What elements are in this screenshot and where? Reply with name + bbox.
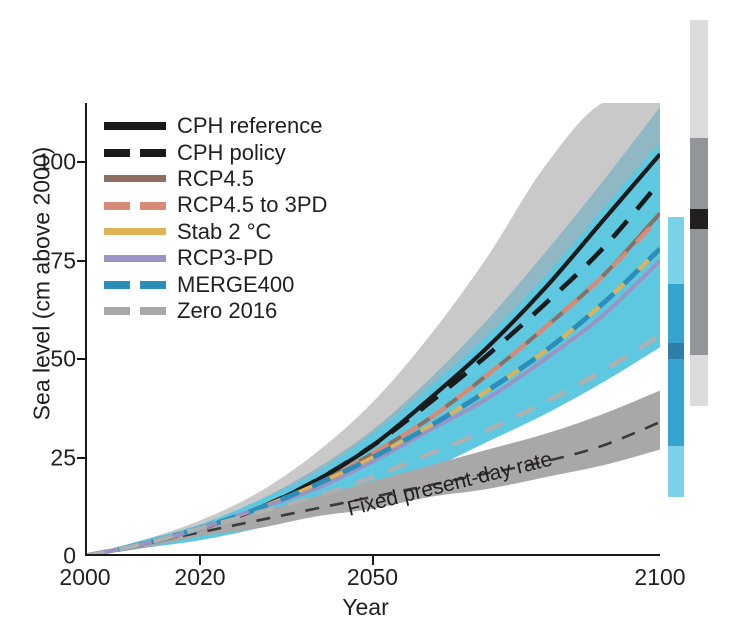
side-bar-segment-merge400-distribution-0	[668, 217, 684, 284]
side-bar-segment-cph-reference-distribution-1	[690, 138, 708, 209]
y-tick-mark-100	[77, 161, 86, 163]
side-bar-segment-merge400-distribution-4	[668, 446, 684, 497]
x-tick-label-2100: 2100	[634, 564, 685, 591]
legend-item-label: CPH reference	[177, 115, 323, 137]
legend-swatch-icon	[104, 228, 166, 235]
side-bar-segment-cph-reference-distribution-2	[690, 209, 708, 229]
x-tick-label-2020: 2020	[174, 564, 225, 591]
legend-item-rcp4-5: RCP4.5	[104, 166, 327, 192]
legend-item-cph-reference: CPH reference	[104, 113, 327, 139]
legend-swatch-icon	[104, 122, 166, 130]
y-tick-mark-75	[77, 260, 86, 262]
side-bar-segment-merge400-distribution-3	[668, 359, 684, 446]
side-bar-segment-merge400-distribution-1	[668, 284, 684, 343]
legend-swatch-icon	[104, 202, 166, 209]
x-tick-label-2000: 2000	[59, 564, 110, 591]
legend-item-label: CPH policy	[177, 142, 286, 164]
side-bar-segment-cph-reference-distribution-3	[690, 229, 708, 355]
side-bar-segment-cph-reference-distribution-0	[690, 20, 708, 138]
legend-swatch-icon	[104, 149, 166, 156]
chart-legend: CPH referenceCPH policyRCP4.5RCP4.5 to 3…	[104, 113, 327, 324]
legend-item-label: RCP4.5	[177, 168, 254, 190]
legend-item-label: Zero 2016	[177, 300, 277, 322]
y-axis-title: Sea level (cm above 2000)	[29, 134, 56, 434]
legend-item-label: Stab 2 °C	[177, 221, 271, 243]
legend-item-rcp3-pd: RCP3-PD	[104, 245, 327, 271]
y-tick-mark-25	[77, 457, 86, 459]
legend-item-zero-2016: Zero 2016	[104, 298, 327, 324]
legend-swatch-icon	[104, 175, 166, 182]
y-tick-mark-50	[77, 358, 86, 360]
legend-swatch-icon	[104, 281, 166, 288]
legend-item-label: MERGE400	[177, 274, 294, 296]
x-tick-label-2050: 2050	[347, 564, 398, 591]
side-bar-segment-cph-reference-distribution-4	[690, 355, 708, 406]
x-axis-title: Year	[0, 594, 731, 621]
legend-item-label: RCP3-PD	[177, 247, 274, 269]
legend-item-merge400: MERGE400	[104, 271, 327, 297]
legend-item-stab-2-c: Stab 2 °C	[104, 219, 327, 245]
x-tick-mark-2050	[372, 556, 374, 565]
legend-item-cph-policy: CPH policy	[104, 139, 327, 165]
legend-item-label: RCP4.5 to 3PD	[177, 194, 327, 216]
legend-swatch-icon	[104, 307, 166, 314]
legend-item-rcp4-5-to-3pd: RCP4.5 to 3PD	[104, 192, 327, 218]
y-tick-label-25: 25	[16, 458, 76, 481]
x-tick-mark-2020	[199, 556, 201, 565]
side-bar-segment-merge400-distribution-2	[668, 343, 684, 359]
legend-swatch-icon	[104, 255, 166, 262]
chart-figure: 0255075100 Sea level (cm above 2000) Yea…	[0, 0, 731, 623]
